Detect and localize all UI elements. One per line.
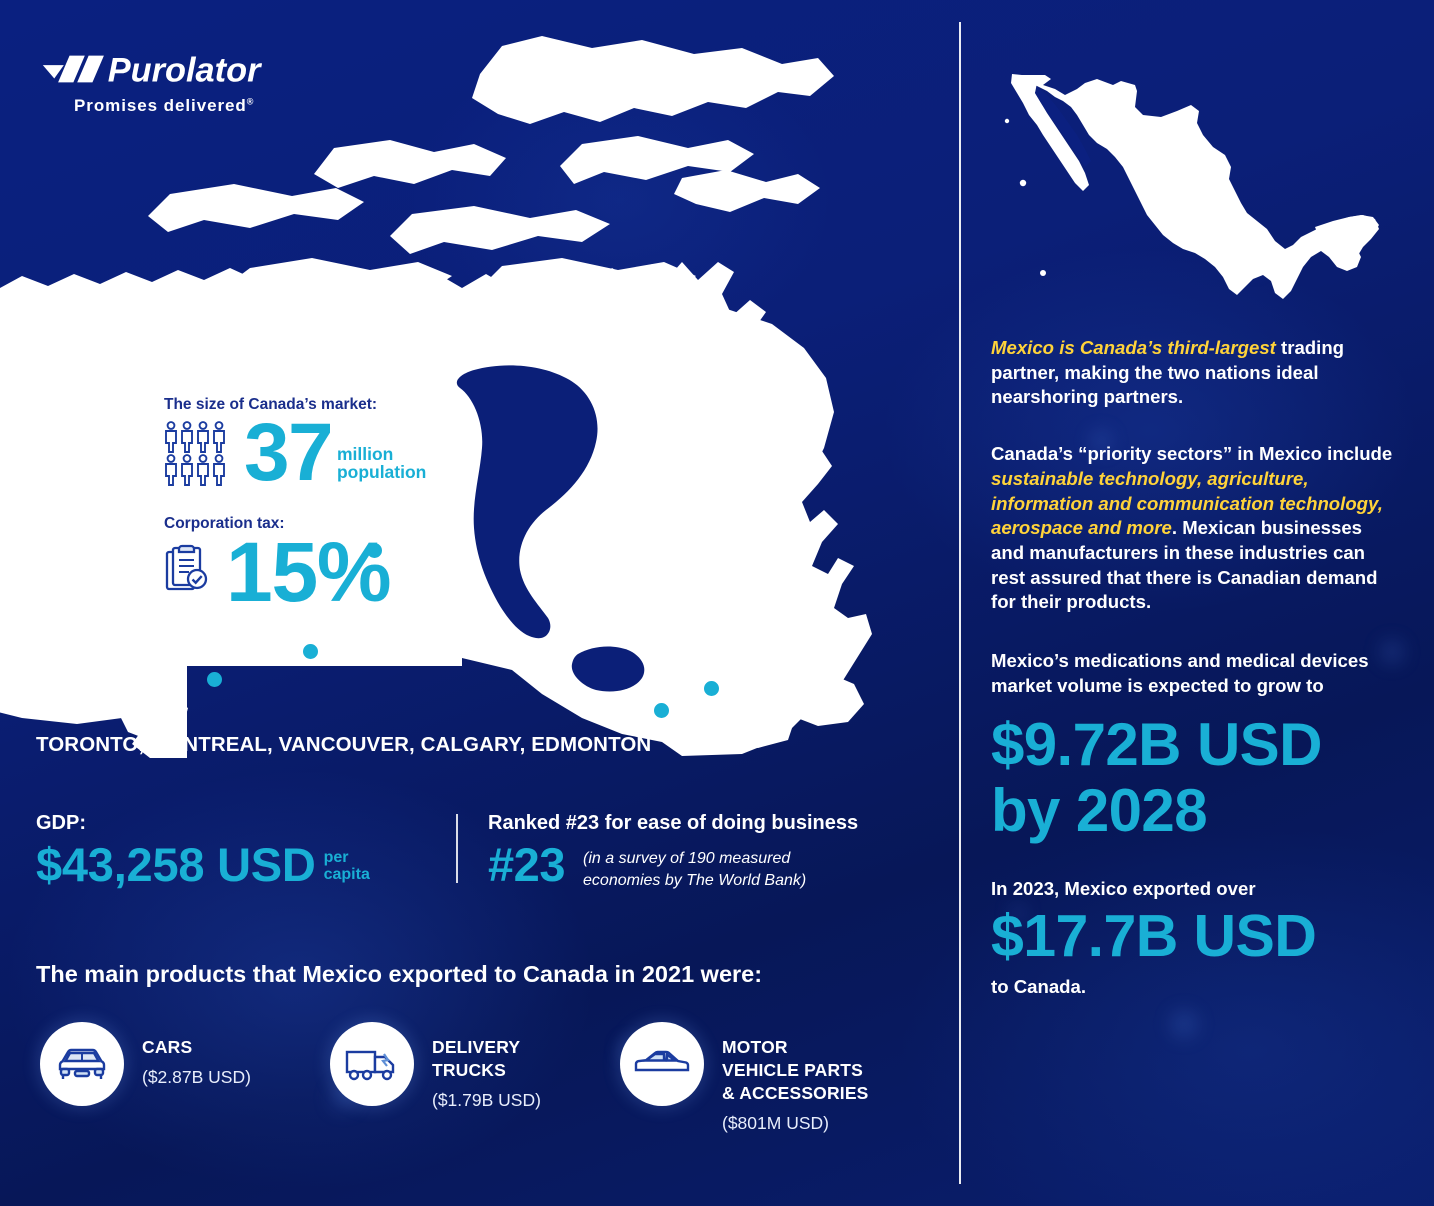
rank-note: (in a survey of 190 measured economies b… xyxy=(583,841,806,891)
gdp-block: GDP: $43,258 USD per capita xyxy=(36,812,456,891)
export-2023-tail: to Canada. xyxy=(991,976,1395,998)
stats-row: GDP: $43,258 USD per capita Ranked #23 f… xyxy=(36,812,916,891)
product-name-line3: & ACCESSORIES xyxy=(722,1083,869,1103)
gdp-sub-line2: capita xyxy=(324,866,370,883)
infographic-page: Purolator Promises delivered® The size o… xyxy=(0,0,1434,1206)
logo-tagline: Promises delivered® xyxy=(74,96,300,116)
export-2023-value: $17.7B USD xyxy=(991,906,1395,968)
product-amount: ($1.79B USD) xyxy=(432,1090,541,1111)
clipboard-check-icon xyxy=(164,544,212,601)
city-dot-toronto xyxy=(704,681,719,696)
ease-of-business-block: Ranked #23 for ease of doing business #2… xyxy=(488,812,916,891)
car-side-icon xyxy=(620,1022,704,1106)
market-unit-line2: population xyxy=(337,462,426,482)
products-heading: The main products that Mexico exported t… xyxy=(36,961,762,988)
product-name-line1: MOTOR xyxy=(722,1037,788,1057)
stats-divider xyxy=(456,814,458,883)
delivery-truck-icon xyxy=(330,1022,414,1106)
gdp-sub: per capita xyxy=(324,850,370,888)
export-2023-lead: In 2023, Mexico exported over xyxy=(991,878,1395,900)
car-front-icon xyxy=(40,1022,124,1106)
market-size-unit: million population xyxy=(337,446,426,491)
product-name-line2: VEHICLE PARTS xyxy=(722,1060,863,1080)
gdp-label: GDP: xyxy=(36,812,456,835)
medical-market-value-line2: by 2028 xyxy=(991,779,1395,844)
paragraph-priority-sectors: Canada’s “priority sectors” in Mexico in… xyxy=(991,442,1395,615)
highlight-third-largest: Mexico is Canada’s third-largest xyxy=(991,337,1276,358)
people-group-icon xyxy=(164,420,232,491)
market-size-block: The size of Canada’s market: xyxy=(164,396,544,491)
market-size-value: 37 xyxy=(244,419,332,486)
market-size-label: The size of Canada’s market: xyxy=(164,396,544,414)
products-row: CARS ($2.87B USD) xyxy=(40,1022,930,1134)
city-dot-victoria xyxy=(207,672,222,687)
rank-headline: Ranked #23 for ease of doing business xyxy=(488,812,916,835)
product-amount: ($801M USD) xyxy=(722,1113,869,1134)
product-name: MOTOR VEHICLE PARTS & ACCESSORIES xyxy=(722,1036,869,1105)
right-column: Mexico is Canada’s third-largest trading… xyxy=(991,336,1395,998)
registered-mark: ® xyxy=(247,96,255,106)
rank-note-line1: (in a survey of 190 measured xyxy=(583,850,790,867)
product-item-cars: CARS ($2.87B USD) xyxy=(40,1022,330,1134)
product-name-line2: TRUCKS xyxy=(432,1060,506,1080)
logo-wordmark: Purolator xyxy=(108,51,262,89)
canada-map-silhouette xyxy=(0,18,912,758)
mexico-map-silhouette xyxy=(985,45,1395,320)
gdp-sub-line1: per xyxy=(324,849,349,866)
medical-market-value-line1: $9.72B USD xyxy=(991,713,1395,778)
column-divider xyxy=(959,22,961,1184)
product-item-delivery-trucks: DELIVERY TRUCKS ($1.79B USD) xyxy=(330,1022,620,1134)
rank-value: #23 xyxy=(488,841,565,888)
paragraph-medical-market: Mexico’s medications and medical devices… xyxy=(991,649,1395,698)
major-cities-block: Major cities: TORONTO, MONTREAL, VANCOUV… xyxy=(36,702,651,757)
city-dot-vancouver xyxy=(303,644,318,659)
product-amount: ($2.87B USD) xyxy=(142,1067,251,1088)
bg-speckle xyxy=(1170,1010,1198,1038)
corporation-tax-block: Corporation tax: 15% xyxy=(164,515,494,611)
gdp-value: $43,258 USD xyxy=(36,841,316,888)
city-dot-montreal xyxy=(654,703,669,718)
product-item-motor-vehicle-parts: MOTOR VEHICLE PARTS & ACCESSORIES ($801M… xyxy=(620,1022,920,1134)
corporation-tax-value: 15% xyxy=(226,535,390,611)
paragraph-2-lead: Canada’s “priority sectors” in Mexico in… xyxy=(991,443,1392,464)
major-cities-list: TORONTO, MONTREAL, VANCOUVER, CALGARY, E… xyxy=(36,733,651,757)
major-cities-label: Major cities: xyxy=(36,702,651,723)
product-name: CARS xyxy=(142,1036,251,1059)
logo-tagline-text: Promises delivered xyxy=(74,96,247,115)
purolator-logo: Purolator Promises delivered® xyxy=(40,48,300,116)
product-name: DELIVERY TRUCKS xyxy=(432,1036,541,1082)
paragraph-trading-partner: Mexico is Canada’s third-largest trading… xyxy=(991,336,1395,410)
rank-note-line2: economies by The World Bank) xyxy=(583,872,806,889)
product-name-line1: DELIVERY xyxy=(432,1037,520,1057)
